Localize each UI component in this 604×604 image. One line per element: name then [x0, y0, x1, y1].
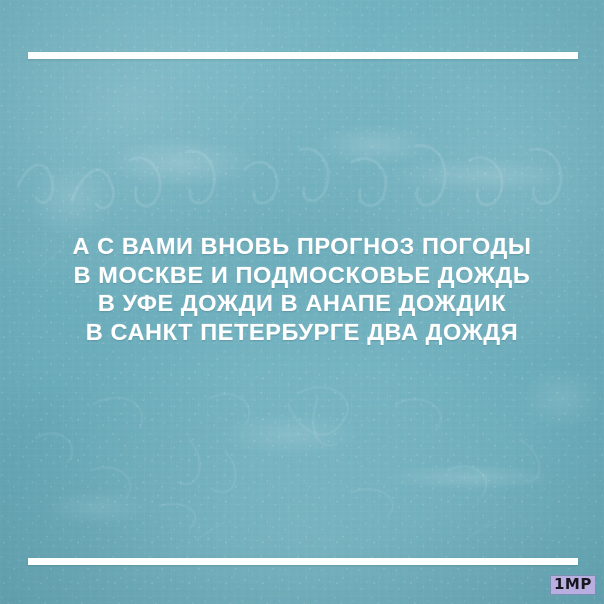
- watermark-label: 1MP: [551, 576, 595, 594]
- caption-line-2: В МОСКВЕ И ПОДМОСКОВЬЕ ДОЖДЬ: [0, 261, 604, 290]
- top-divider: [28, 52, 578, 59]
- caption-block: А С ВАМИ ВНОВЬ ПРОГНОЗ ПОГОДЫ В МОСКВЕ И…: [0, 232, 604, 346]
- caption-line-1: А С ВАМИ ВНОВЬ ПРОГНОЗ ПОГОДЫ: [0, 232, 604, 261]
- meme-card: А С ВАМИ ВНОВЬ ПРОГНОЗ ПОГОДЫ В МОСКВЕ И…: [0, 0, 604, 604]
- caption-line-4: В САНКТ ПЕТЕРБУРГЕ ДВА ДОЖДЯ: [0, 318, 604, 347]
- caption-line-3: В УФЕ ДОЖДИ В АНАПЕ ДОЖДИК: [0, 289, 604, 318]
- bottom-divider: [28, 558, 578, 565]
